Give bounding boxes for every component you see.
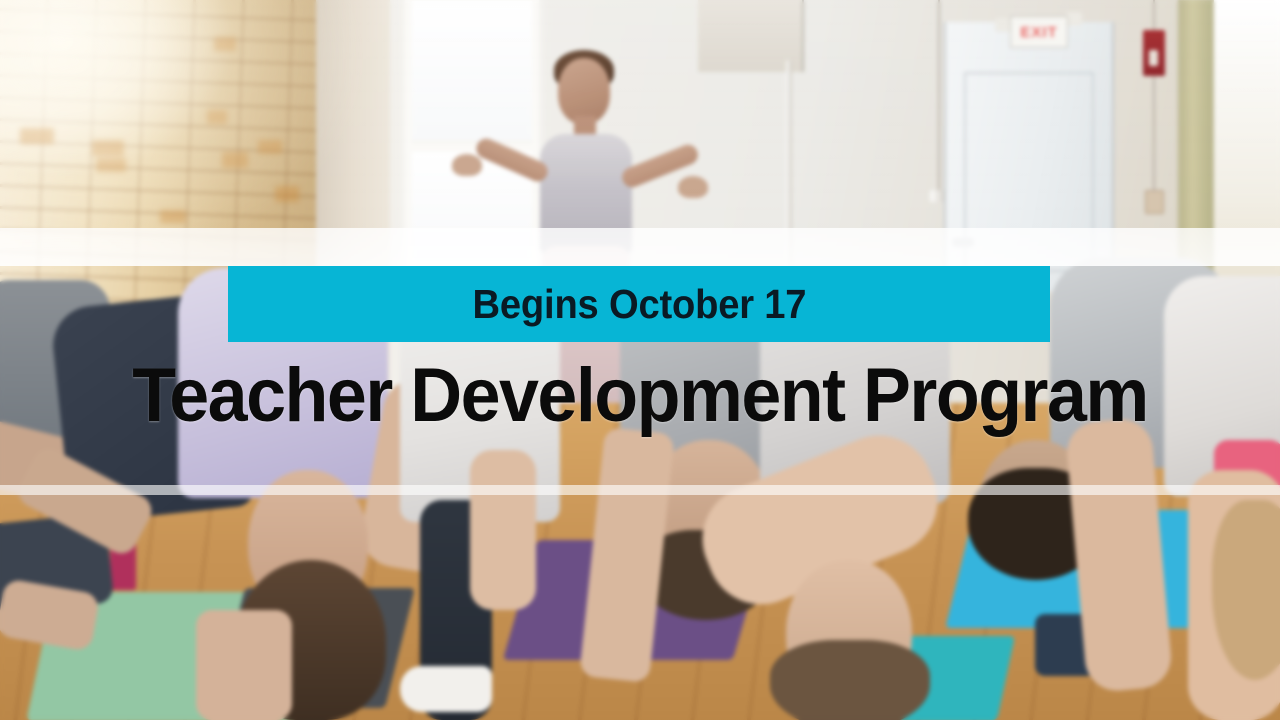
studio-door (944, 22, 1114, 292)
door-handle (952, 238, 974, 247)
right-window-light (1214, 0, 1280, 320)
promo-slide: EXIT (0, 0, 1280, 720)
brick-accent (20, 128, 54, 144)
vertical-pipe (786, 60, 792, 270)
exit-sign-cord (938, 0, 940, 190)
exit-lamp-left (995, 18, 1011, 32)
student-leg (196, 610, 292, 720)
exit-sign-label: EXIT (1020, 24, 1057, 41)
alarm-cord (1153, 0, 1155, 32)
page-title: Teacher Development Program (35, 358, 1245, 434)
instructor-right-hand (678, 176, 708, 198)
brick-accent (214, 37, 236, 51)
instructor-head (558, 58, 610, 124)
instructor-tank-top (540, 134, 632, 256)
wall-outlet (1145, 190, 1164, 214)
student-leg-bare (470, 450, 536, 610)
instructor-left-hand (452, 154, 482, 176)
exit-lamp-right (1066, 12, 1082, 26)
brick-accent (92, 140, 124, 156)
outlet-cord (1153, 76, 1155, 192)
fire-alarm-pull-station (1143, 30, 1165, 76)
brick-accent (275, 186, 299, 202)
student-sock (400, 666, 492, 712)
eyebrow-banner: Begins October 17 (228, 266, 1050, 342)
eyebrow-text: Begins October 17 (472, 284, 806, 325)
brick-accent (207, 110, 227, 124)
door-panel-inset (964, 72, 1094, 272)
door-jamb-green (1178, 0, 1214, 300)
student-hair (770, 640, 930, 720)
brick-accent (160, 210, 186, 223)
brick-accent (222, 152, 248, 168)
brick-accent (96, 158, 126, 172)
brick-accent (258, 140, 282, 154)
exit-sign: EXIT (1010, 16, 1068, 48)
